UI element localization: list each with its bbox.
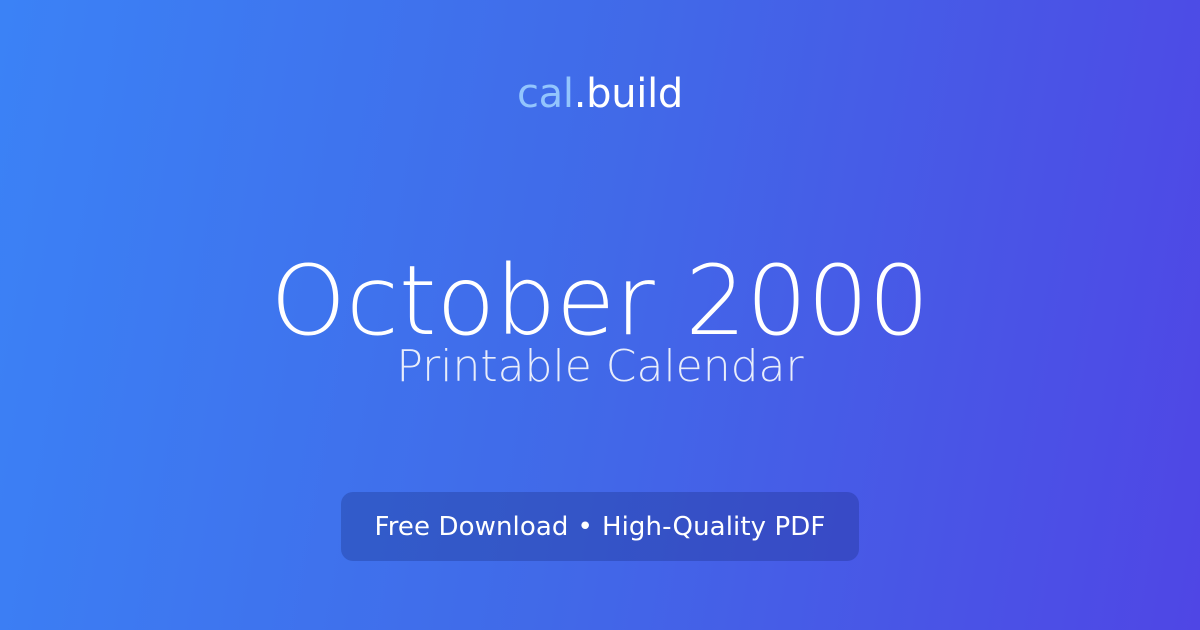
page-subtitle: Printable Calendar	[0, 341, 1200, 394]
brand-logo-prefix: cal	[517, 71, 574, 117]
brand-logo-suffix: build	[586, 71, 683, 117]
download-badge[interactable]: Free Download • High-Quality PDF	[341, 492, 860, 561]
brand-logo[interactable]: cal.build	[0, 74, 1200, 114]
og-share-card: cal.build October 2000 Printable Calenda…	[0, 0, 1200, 630]
badge-left-label: Free Download	[375, 512, 569, 542]
badge-separator-icon: •	[569, 512, 602, 542]
brand-logo-dot: .	[574, 71, 586, 117]
page-title: October 2000	[0, 250, 1200, 354]
badge-right-label: High-Quality PDF	[602, 512, 826, 542]
badge-row: Free Download • High-Quality PDF	[0, 492, 1200, 561]
